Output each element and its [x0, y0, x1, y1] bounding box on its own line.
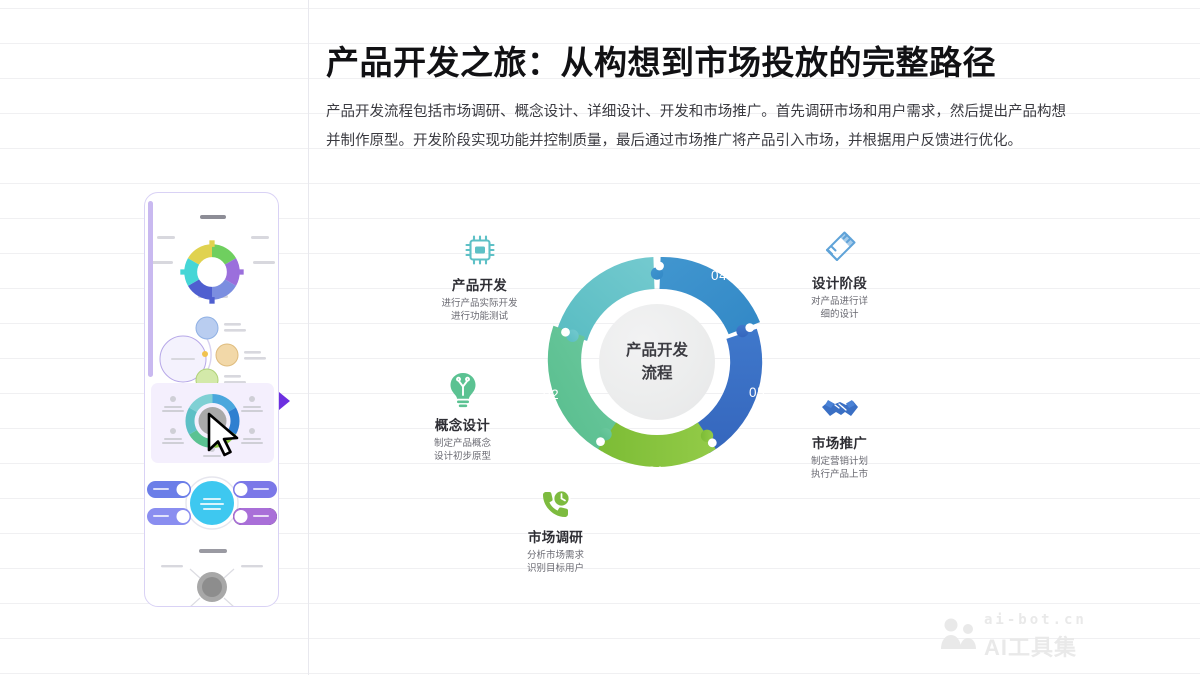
ruled-line [0, 183, 1200, 184]
ruled-line [0, 8, 1200, 9]
stage-label-04[interactable]: 设计阶段 对产品进行详 细的设计 [762, 228, 917, 321]
ruled-line [0, 673, 1200, 674]
toggle-pills-icon [145, 465, 279, 541]
stage-name-03: 产品开发 [402, 274, 557, 294]
watermark-logo-icon [938, 616, 982, 656]
stage-desc-05: 制定营销计划 执行产品上市 [762, 455, 917, 481]
radial-burst-icon [145, 557, 279, 607]
page-description: 产品开发流程包括市场调研、概念设计、详细设计、开发和市场推广。首先调研市场和用户… [326, 98, 1066, 156]
cpu-chip-icon [402, 230, 557, 268]
stage-label-01[interactable]: 市场调研 分析市场需求 识别目标用户 [478, 482, 633, 575]
stage-desc-04: 对产品进行详 细的设计 [762, 295, 917, 321]
stage-label-03[interactable]: 产品开发 进行产品实际开发 进行功能测试 [402, 230, 557, 323]
thumbnail-radial-burst[interactable] [145, 543, 279, 607]
stage-name-05: 市场推广 [762, 432, 917, 452]
thumbnail-toggle-pills[interactable] [145, 465, 279, 541]
orbit-circles-icon [145, 311, 279, 391]
watermark-domain: ai-bot.cn [984, 612, 1087, 628]
stage-desc-01: 分析市场需求 识别目标用户 [478, 549, 633, 575]
template-gallery-panel[interactable] [144, 192, 279, 607]
mouse-cursor [207, 412, 241, 458]
donut-hub-label: 产品开发 流程 [599, 304, 715, 420]
stage-name-02: 概念设计 [385, 414, 540, 434]
segment-01 [598, 423, 716, 468]
stage-name-01: 市场调研 [478, 526, 633, 546]
hub-line-2: 流程 [641, 362, 672, 385]
segment-number-01: 01 [648, 464, 664, 479]
segment-number-04: 04 [711, 268, 727, 283]
vertical-guide-line [308, 0, 309, 675]
segment-number-03: 03 [580, 266, 596, 281]
watermark-brand: AI工具集 [984, 630, 1077, 662]
stage-desc-03: 进行产品实际开发 进行功能测试 [402, 297, 557, 323]
page-title: 产品开发之旅：从构想到市场投放的完整路径 [326, 36, 1066, 84]
stage-label-02[interactable]: 概念设计 制定产品概念 设计初步原型 [385, 370, 540, 463]
watermark: ai-bot.cn AI工具集 [938, 608, 1098, 660]
thumbnail-orbit-circles[interactable] [145, 311, 279, 391]
stage-name-04: 设计阶段 [762, 272, 917, 292]
panel-scrollbar[interactable] [148, 201, 153, 377]
handshake-icon [762, 388, 917, 426]
hub-line-1: 产品开发 [626, 339, 688, 362]
lightbulb-icon [385, 370, 540, 408]
stage-label-05[interactable]: 市场推广 制定营销计划 执行产品上市 [762, 388, 917, 481]
stage-desc-02: 制定产品概念 设计初步原型 [385, 437, 540, 463]
phone-clock-icon [478, 482, 633, 520]
pencil-ruler-icon [762, 228, 917, 266]
gear-rosette-icon [179, 239, 245, 305]
panel-expand-arrow-icon[interactable] [279, 392, 290, 410]
segment-number-02: 02 [543, 387, 559, 402]
slide-canvas: 产品开发之旅：从构想到市场投放的完整路径 产品开发流程包括市场调研、概念设计、详… [0, 0, 1200, 675]
thumbnail-gear-rosette[interactable] [145, 203, 279, 311]
